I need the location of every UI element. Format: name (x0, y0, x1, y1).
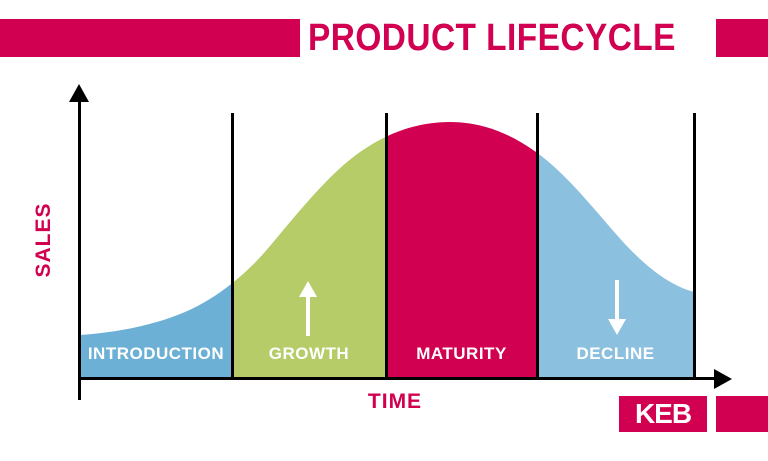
x-axis-label: TIME (330, 390, 460, 414)
product-lifecycle-infographic: PRODUCT LIFECYCLE (0, 0, 768, 461)
segment-label-introduction: INTRODUCTION (80, 344, 232, 364)
x-axis-arrow-icon (714, 369, 732, 389)
x-axis-line (78, 377, 718, 380)
segment-label-decline: DECLINE (537, 344, 694, 364)
growth-up-arrow-icon (297, 280, 319, 336)
segment-label-growth: GROWTH (232, 344, 386, 364)
page-title: PRODUCT LIFECYCLE (308, 16, 664, 60)
header: PRODUCT LIFECYCLE (0, 19, 768, 57)
header-accent-bar-left (0, 19, 300, 57)
footer-accent-bar (716, 396, 768, 432)
segment-label-maturity: MATURITY (386, 344, 537, 364)
lifecycle-chart: SALES TIME INTRODUCTION GROWTH MATURITY … (0, 80, 768, 400)
keb-logo-text: KEB (619, 396, 707, 432)
y-axis-label: SALES (32, 190, 56, 290)
decline-down-arrow-icon (606, 280, 628, 336)
y-axis-arrow-icon (69, 84, 89, 102)
header-accent-bar-right (716, 19, 768, 57)
